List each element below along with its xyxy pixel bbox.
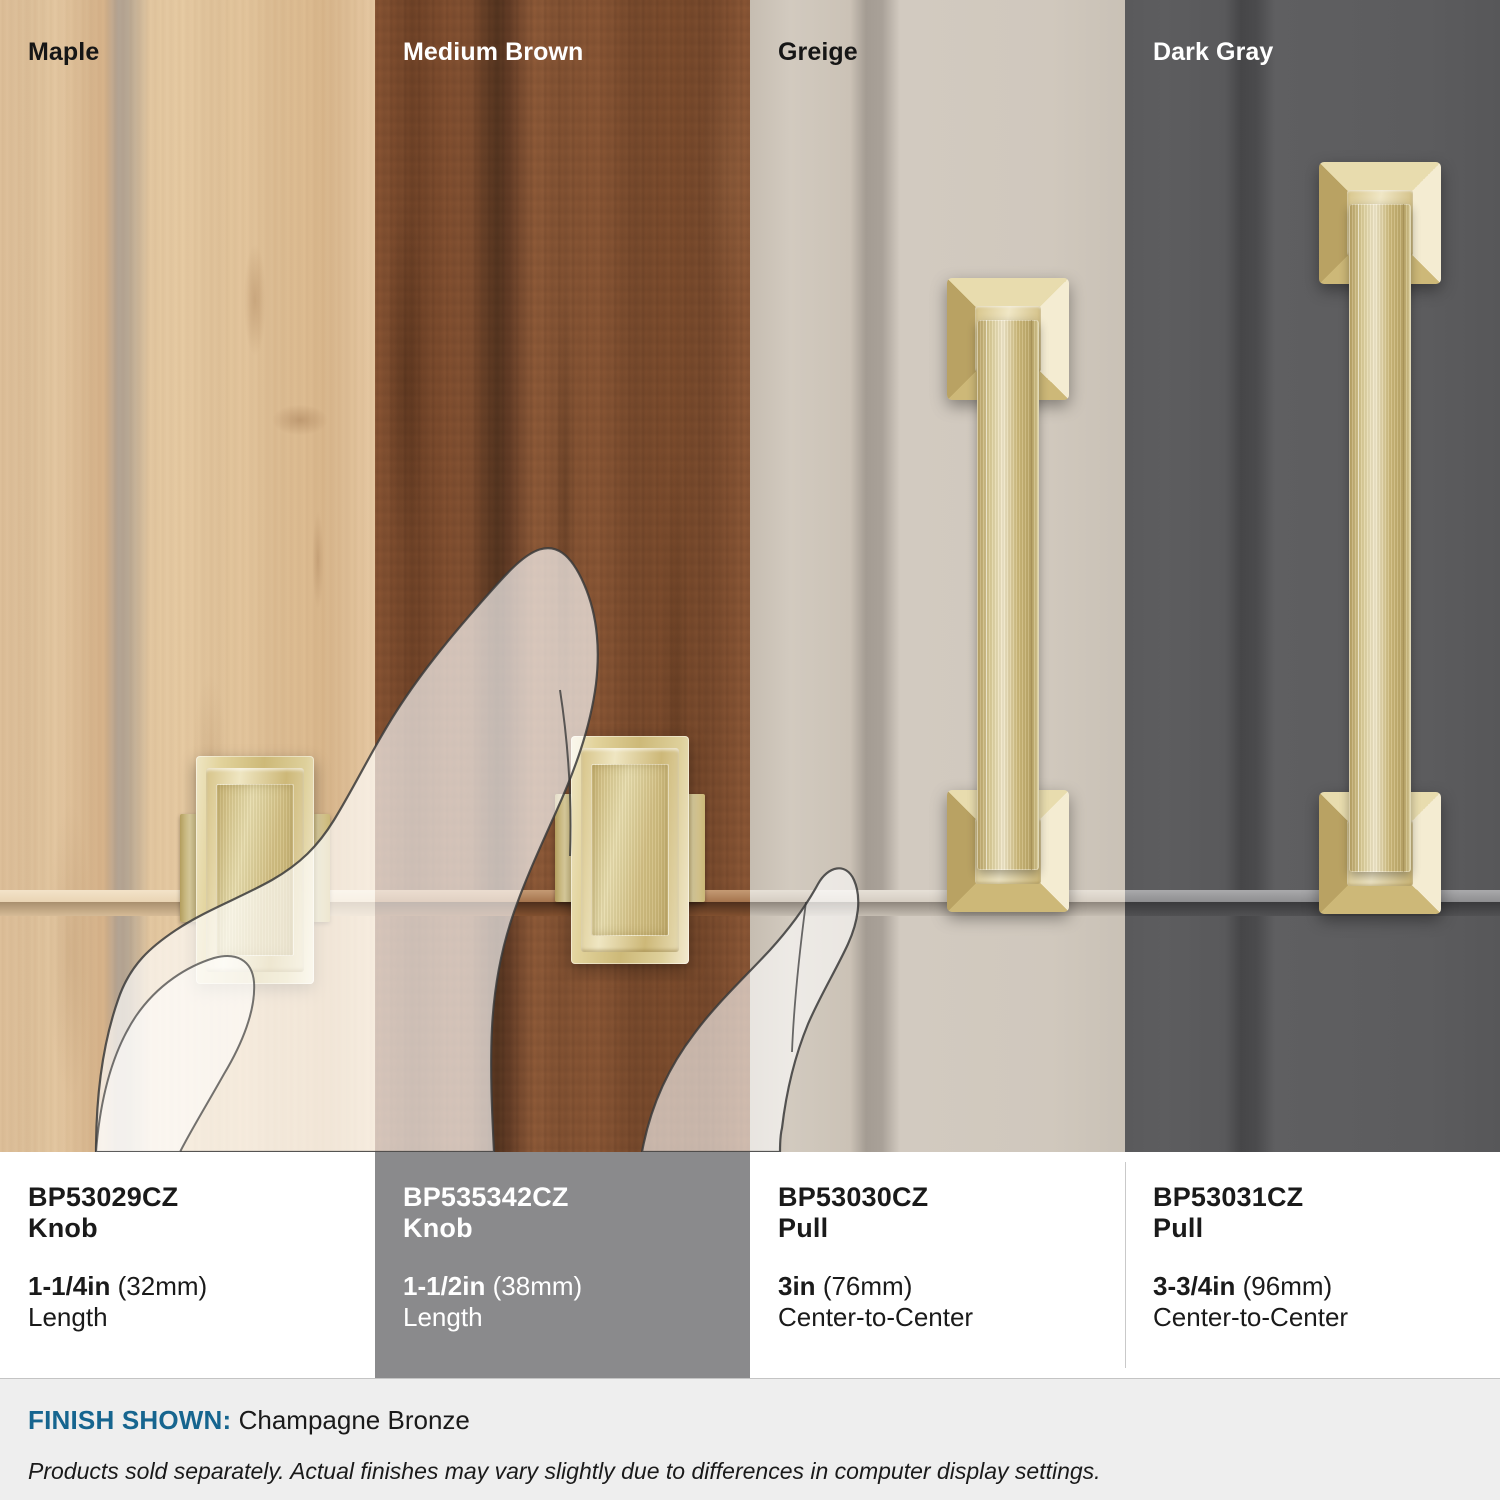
knob-hardware-medium-brown[interactable] — [571, 736, 689, 964]
finish-shown-line: FINISH SHOWN: Champagne Bronze — [28, 1405, 1470, 1436]
dimension-measure: Length — [403, 1302, 724, 1334]
product-type: Knob — [403, 1213, 724, 1244]
dimension-metric: (96mm) — [1243, 1271, 1333, 1301]
knob-hardware-maple[interactable] — [196, 756, 314, 984]
medium-brown-wood-figure — [375, 0, 750, 1152]
dimension-metric: (76mm) — [823, 1271, 913, 1301]
dimension-metric: (38mm) — [493, 1271, 583, 1301]
pull-hardware-greige[interactable] — [943, 278, 1073, 912]
product-dimension: 1-1/2in (38mm) Length — [403, 1271, 724, 1334]
caption-cell-2: BP535342CZ Knob 1-1/2in (38mm) Length — [375, 1152, 750, 1378]
dimension-measure: Length — [28, 1302, 349, 1334]
finish-panel-row: Maple Medium Brown — [0, 0, 1500, 1152]
pull-grip-bar — [977, 320, 1039, 870]
caption-cell-1: BP53029CZ Knob 1-1/4in (32mm) Length — [0, 1152, 375, 1378]
product-type: Pull — [1153, 1213, 1474, 1244]
finish-shown-value: Champagne Bronze — [239, 1405, 470, 1435]
knob-face — [591, 764, 669, 936]
panel-label-medium-brown: Medium Brown — [403, 38, 583, 67]
panel-dark-gray: Dark Gray — [1125, 0, 1500, 1152]
caption-row: BP53029CZ Knob 1-1/4in (32mm) Length BP5… — [0, 1152, 1500, 1378]
dimension-imperial: 1-1/2in — [403, 1271, 485, 1301]
dimension-imperial: 1-1/4in — [28, 1271, 110, 1301]
product-sku: BP53030CZ — [778, 1182, 1099, 1213]
product-type: Knob — [28, 1213, 349, 1244]
product-sku: BP535342CZ — [403, 1182, 724, 1213]
finish-shown-label: FINISH SHOWN: — [28, 1405, 231, 1435]
knob-plate — [571, 736, 689, 964]
panel-label-maple: Maple — [28, 38, 99, 67]
panel-medium-brown: Medium Brown — [375, 0, 750, 1152]
panel-maple: Maple — [0, 0, 375, 1152]
product-dimension: 3in (76mm) Center-to-Center — [778, 1271, 1099, 1334]
dimension-measure: Center-to-Center — [1153, 1302, 1474, 1334]
panel-label-greige: Greige — [778, 38, 858, 67]
dimension-metric: (32mm) — [118, 1271, 208, 1301]
knob-face — [216, 784, 294, 956]
product-type: Pull — [778, 1213, 1099, 1244]
product-dimension: 1-1/4in (32mm) Length — [28, 1271, 349, 1334]
caption-cell-3: BP53030CZ Pull 3in (76mm) Center-to-Cent… — [750, 1152, 1125, 1378]
caption-cell-4: BP53031CZ Pull 3-3/4in (96mm) Center-to-… — [1125, 1152, 1500, 1378]
pull-hardware-dark-gray[interactable] — [1315, 162, 1445, 914]
dimension-measure: Center-to-Center — [778, 1302, 1099, 1334]
product-comparison-image: Maple Medium Brown — [0, 0, 1500, 1500]
panel-greige: Greige — [750, 0, 1125, 1152]
footer-note: FINISH SHOWN: Champagne Bronze Products … — [0, 1378, 1500, 1500]
disclaimer-text: Products sold separately. Actual finishe… — [28, 1458, 1470, 1486]
pull-grip-bar — [1349, 204, 1411, 872]
knob-plate — [196, 756, 314, 984]
maple-wood-knots — [0, 0, 375, 1152]
dimension-imperial: 3-3/4in — [1153, 1271, 1235, 1301]
panel-label-dark-gray: Dark Gray — [1153, 38, 1273, 67]
dimension-imperial: 3in — [778, 1271, 816, 1301]
product-sku: BP53031CZ — [1153, 1182, 1474, 1213]
product-sku: BP53029CZ — [28, 1182, 349, 1213]
product-dimension: 3-3/4in (96mm) Center-to-Center — [1153, 1271, 1474, 1334]
